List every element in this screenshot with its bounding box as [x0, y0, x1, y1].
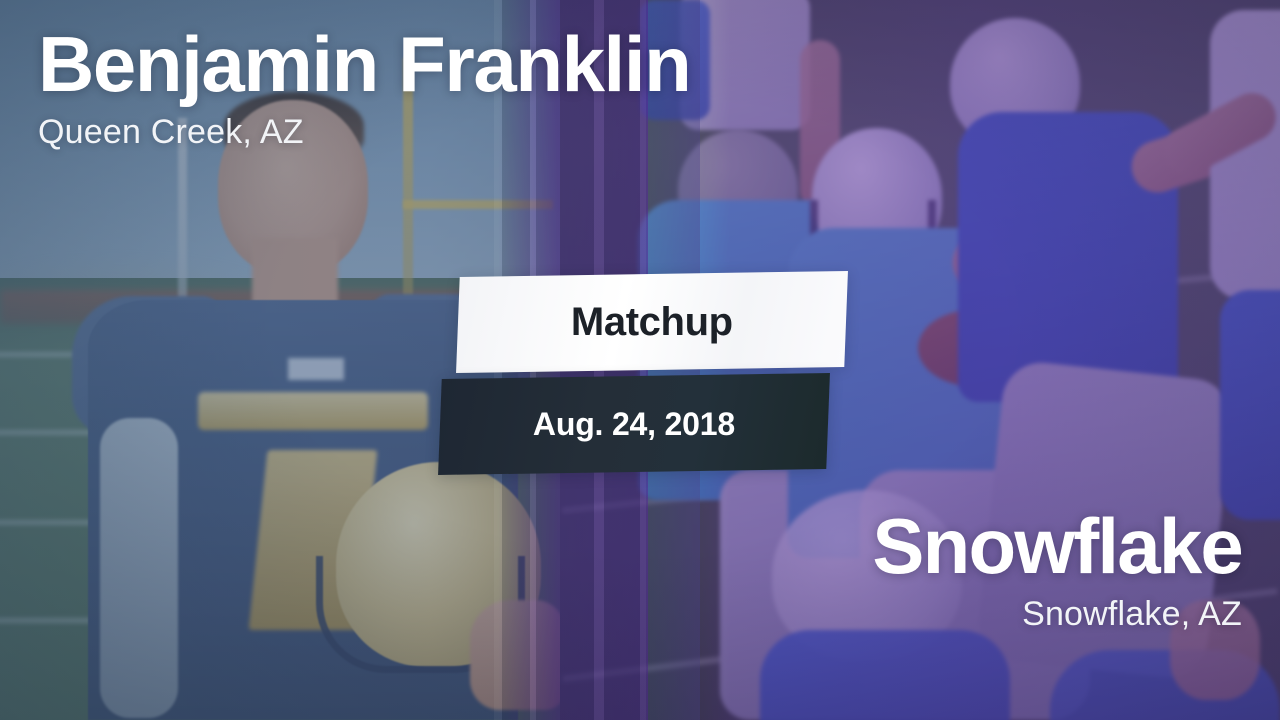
matchup-date-label: Aug. 24, 2018 — [533, 406, 735, 443]
matchup-info-panels: Matchup Aug. 24, 2018 — [440, 268, 860, 480]
away-team-location: Snowflake, AZ — [342, 593, 1242, 636]
away-team-name: Snowflake — [342, 506, 1242, 587]
matchup-heading-panel: Matchup — [456, 271, 848, 373]
matchup-heading-label: Matchup — [571, 300, 733, 345]
matchup-date-panel: Aug. 24, 2018 — [438, 373, 830, 475]
home-team-name: Benjamin Franklin — [38, 24, 938, 105]
home-team-block: Benjamin Franklin Queen Creek, AZ — [38, 24, 938, 154]
home-team-location: Queen Creek, AZ — [38, 111, 938, 154]
matchup-banner: Benjamin Franklin Queen Creek, AZ Matchu… — [0, 0, 1280, 720]
away-team-block: Snowflake Snowflake, AZ — [342, 506, 1242, 636]
